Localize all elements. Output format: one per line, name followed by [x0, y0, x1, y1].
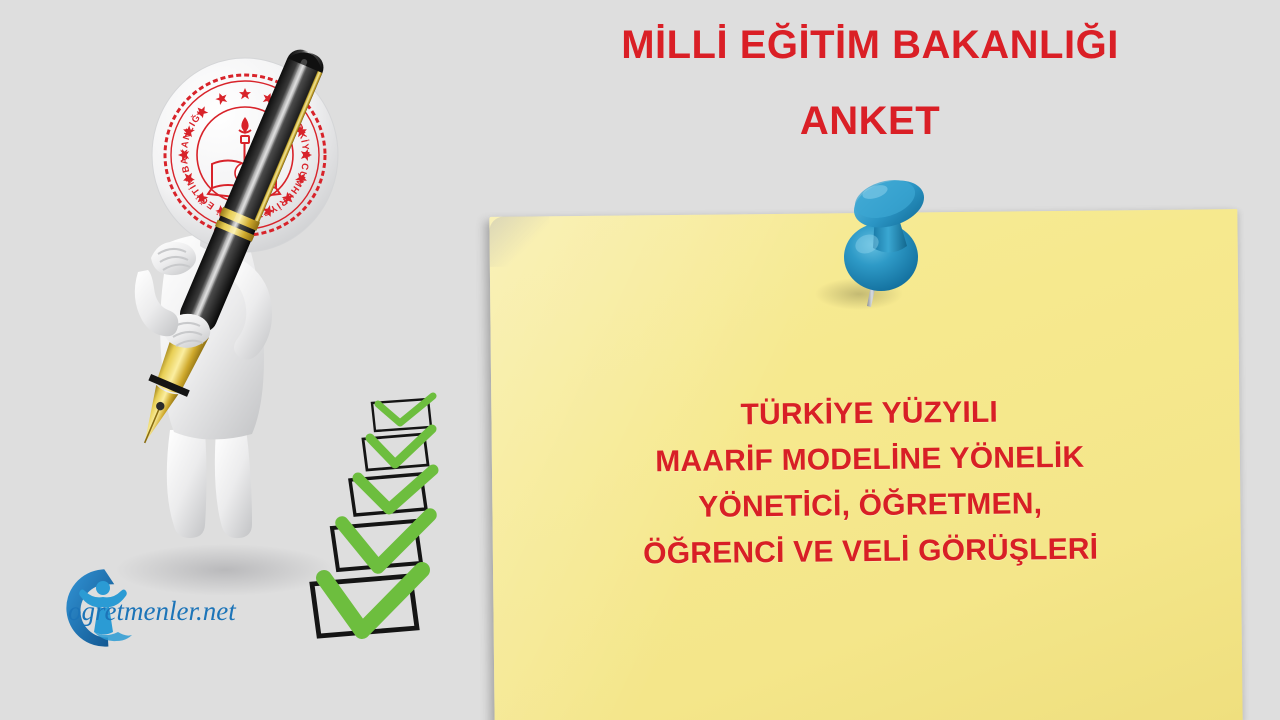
- poster-canvas: MİLLİ EĞİTİM BAKANLIĞI ANKET TÜRKİYE YÜZ…: [0, 0, 1280, 720]
- headline-line-2: ANKET: [470, 100, 1270, 142]
- page-title: MİLLİ EĞİTİM BAKANLIĞI ANKET: [470, 24, 1270, 142]
- logo-wordmark: ogretmenler.net: [68, 596, 237, 626]
- note-line-2: MAARİF MODELİNE YÖNELİK: [470, 433, 1270, 487]
- sticky-note-text: TÜRKİYE YÜZYILI MAARİF MODELİNE YÖNELİK …: [469, 387, 1271, 579]
- ogretmenler-net-logo: ogretmenler.net: [40, 558, 290, 658]
- headline-line-1: MİLLİ EĞİTİM BAKANLIĞI: [621, 23, 1119, 67]
- mannequin-with-pen-illustration: TÜRKİYE CUMHURİYETİ MİLLİ EĞİTİM BAKANLI…: [20, 10, 420, 630]
- note-line-4: ÖĞRENCİ VE VELİ GÖRÜŞLERİ: [471, 525, 1271, 579]
- note-line-3: YÖNETİCİ, ÖĞRETMEN,: [470, 479, 1270, 533]
- note-line-1: TÜRKİYE YÜZYILI: [469, 387, 1269, 441]
- pushpin-icon: [805, 168, 955, 318]
